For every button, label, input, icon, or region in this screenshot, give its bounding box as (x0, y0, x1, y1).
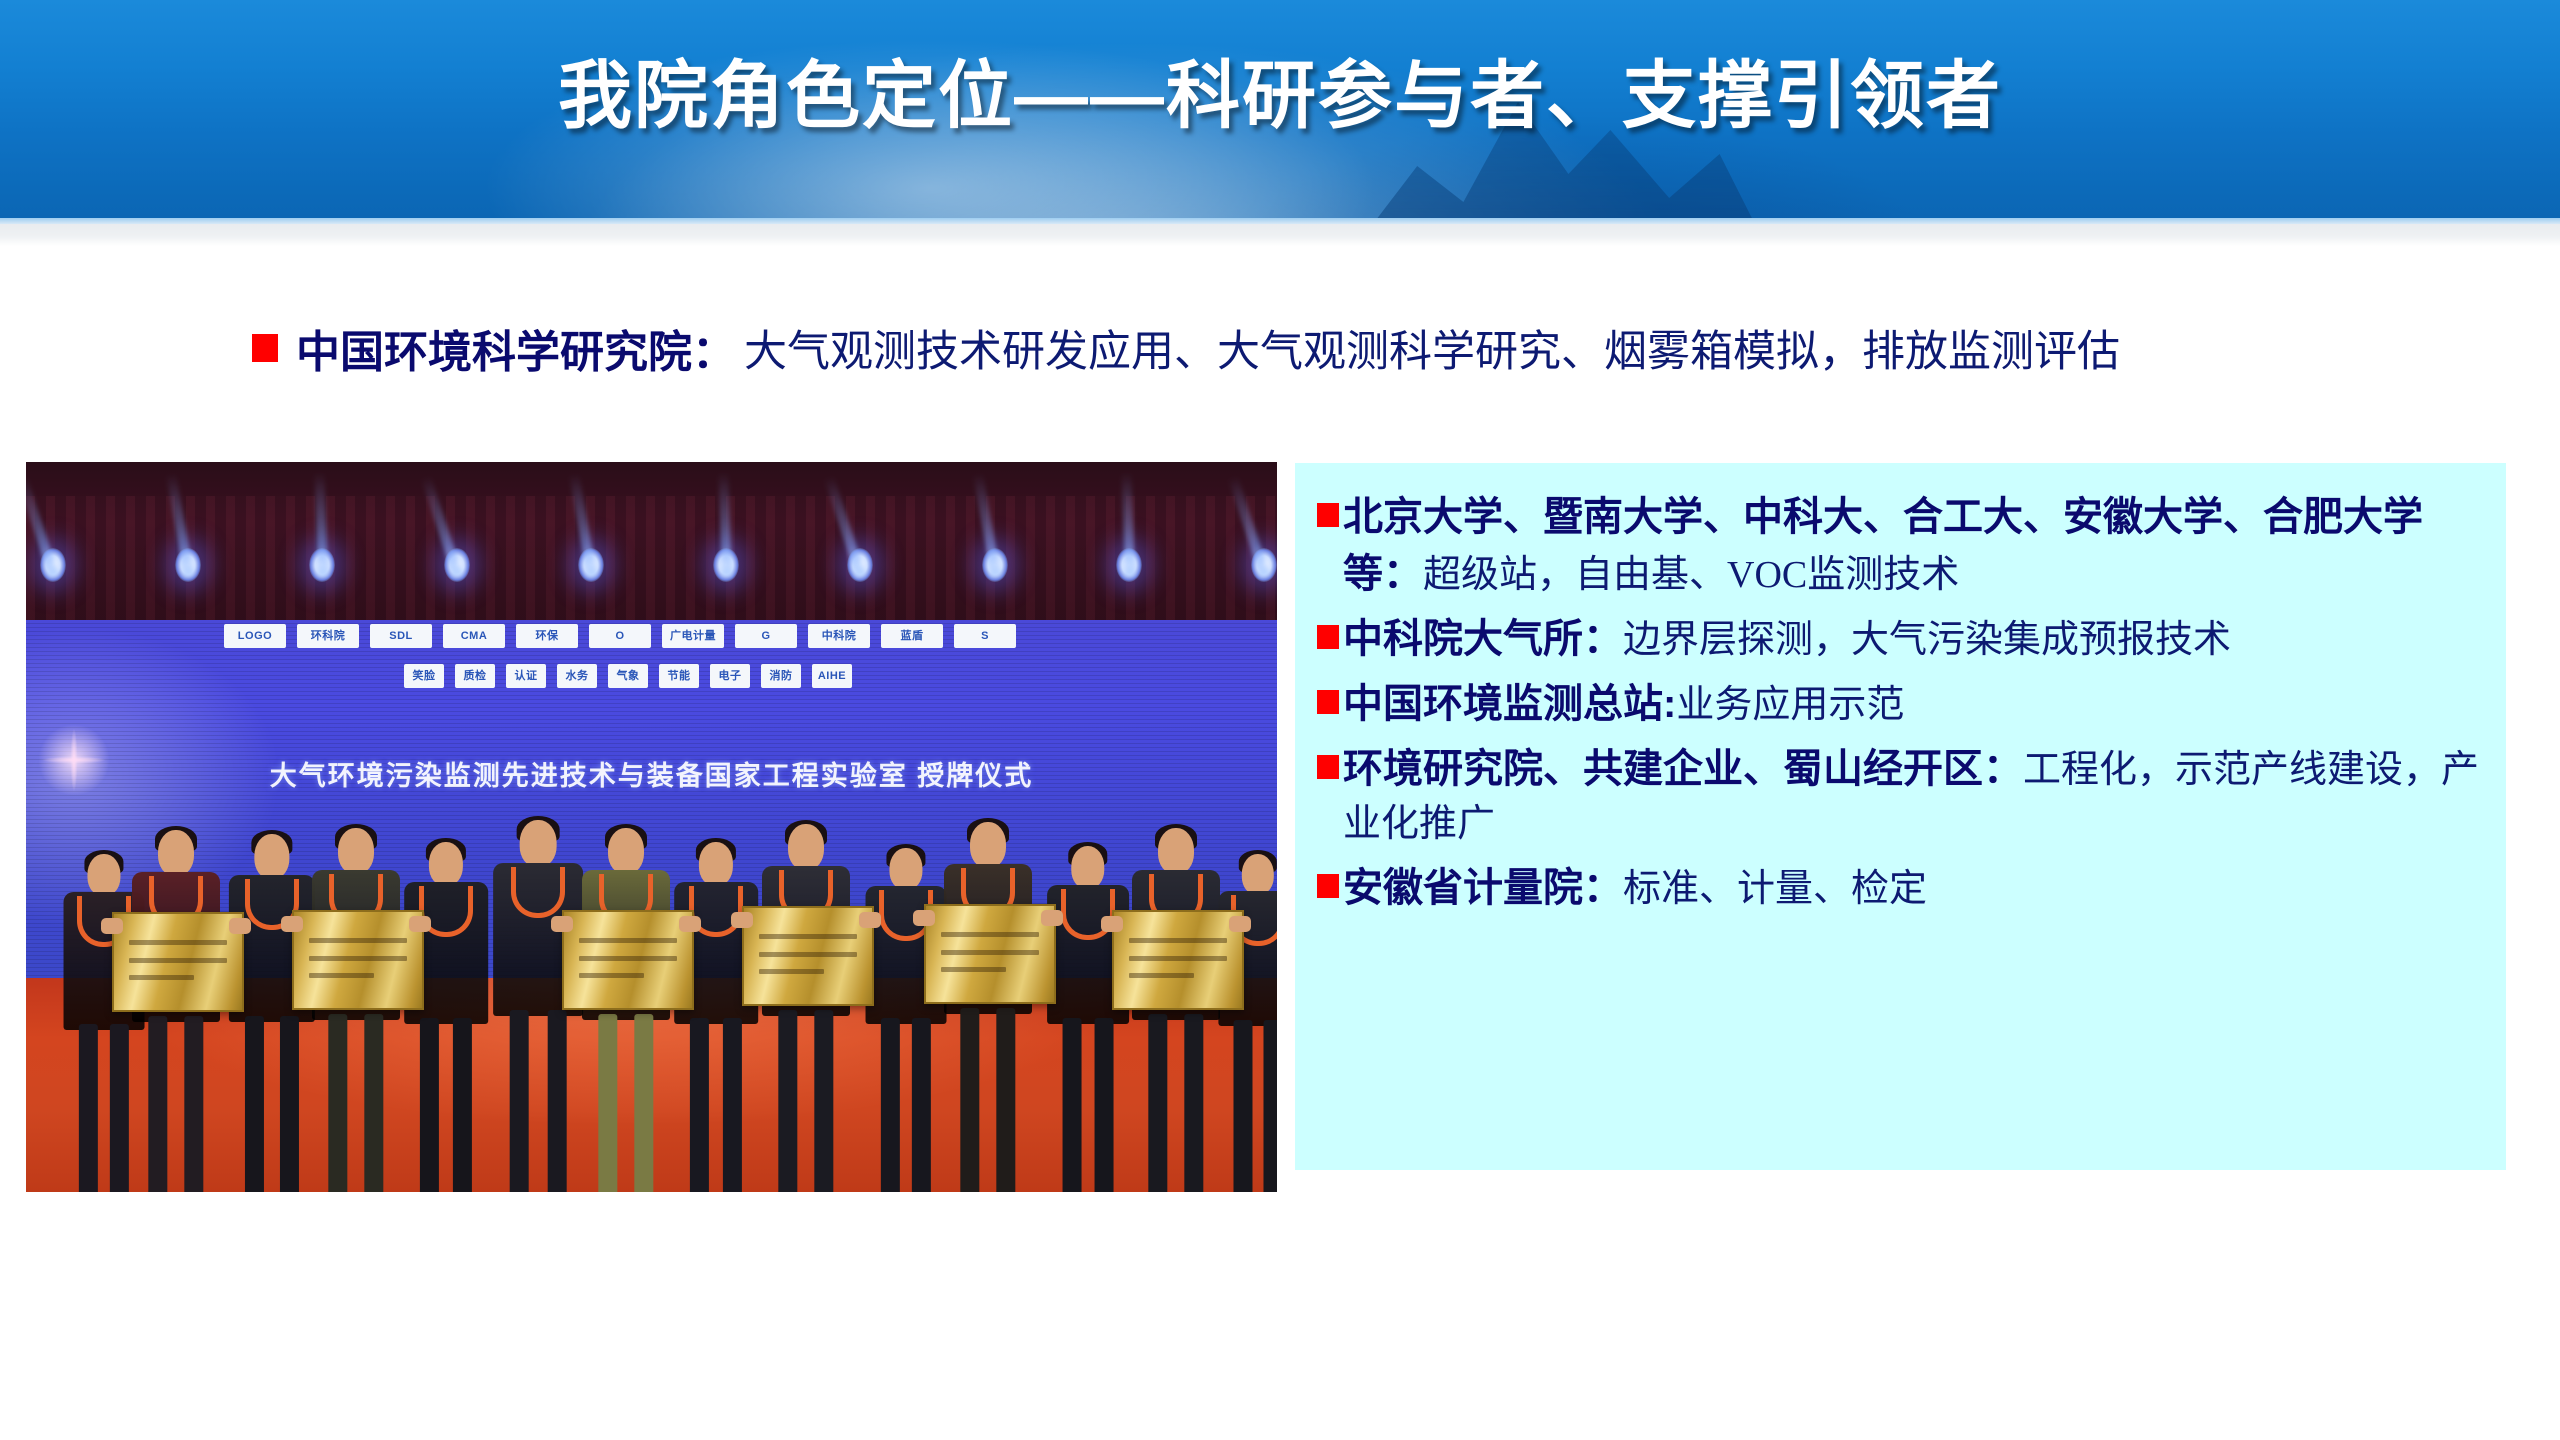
person-leg (778, 1010, 797, 1192)
sponsor-logo-tile: 笑脸 (404, 664, 444, 688)
red-square-bullet-icon (1317, 690, 1339, 714)
person-legs (416, 1018, 476, 1192)
partner-item-detail: 超级站，自由基、VOC监测技术 (1423, 554, 1959, 596)
sponsor-logo-tile: 质检 (455, 664, 495, 688)
partner-item-heading: 中国环境监测总站: (1343, 682, 1676, 726)
person-leg (79, 1024, 98, 1192)
person-leg (997, 1008, 1016, 1192)
sponsor-logo-label: 环保 (536, 631, 559, 642)
person-head (889, 848, 922, 890)
person-leg (815, 1010, 834, 1192)
sponsor-logo-tile: O (589, 624, 651, 648)
person-legs (75, 1024, 133, 1192)
partner-item-row: 安徽省计量院：标准、计量、检定 (1317, 860, 2485, 917)
partner-item: 中科院大气所：边界层探测，大气污染集成预报技术 (1317, 611, 2485, 668)
person-leg (110, 1024, 129, 1192)
person-hand (281, 916, 303, 932)
person-leg (547, 1010, 566, 1192)
lanyard-icon (1061, 889, 1115, 940)
person-leg (723, 1018, 742, 1192)
person-legs (506, 1010, 571, 1192)
person-legs (956, 1008, 1019, 1192)
person-legs (1059, 1018, 1118, 1192)
person-head (338, 828, 374, 874)
person-leg (1264, 1020, 1277, 1192)
person-hand (409, 916, 431, 932)
sponsor-logo-tile: AIHE (812, 664, 852, 688)
sponsor-logo-label: S (981, 631, 989, 642)
person-leg (1233, 1020, 1252, 1192)
person-leg (690, 1018, 709, 1192)
header-shelf-strip (0, 224, 2560, 246)
person-legs (774, 1010, 837, 1192)
sponsor-logo-label: 认证 (515, 671, 538, 682)
stage-lights-row (26, 548, 1277, 620)
sponsor-logo-label: CMA (461, 631, 488, 642)
person-leg (280, 1016, 299, 1192)
person-leg (1185, 1014, 1204, 1192)
slide-header-banner: 我院角色定位——科研参与者、支撑引领者 (0, 0, 2560, 218)
partner-item: 中国环境监测总站:业务应用示范 (1317, 676, 2485, 733)
sponsor-logo-tile: 环保 (516, 624, 578, 648)
person-leg (881, 1018, 900, 1192)
person-leg (598, 1014, 617, 1192)
red-square-bullet-icon (1317, 503, 1339, 527)
person-head (520, 820, 557, 867)
red-square-bullet-icon (1317, 755, 1339, 779)
sponsor-logo-tile: 认证 (506, 664, 546, 688)
sponsor-logo-label: LOGO (238, 631, 272, 642)
person-legs (877, 1018, 935, 1192)
partner-item-detail: 标准、计量、检定 (1623, 868, 1927, 910)
person-hand (1229, 916, 1251, 932)
sponsor-logo-tile: S (954, 624, 1016, 648)
page-title: 我院角色定位——科研参与者、支撑引领者 (0, 36, 2560, 143)
person-hand (1041, 910, 1063, 926)
sponsor-logo-label: 质检 (464, 671, 487, 682)
person-leg (185, 1016, 204, 1192)
award-plaque (924, 904, 1056, 1004)
partner-item-row: 北京大学、暨南大学、中科大、合工大、安徽大学、合肥大学等：超级站，自由基、VOC… (1317, 489, 2485, 603)
person-head (254, 834, 289, 879)
person-legs (144, 1016, 207, 1192)
sponsor-logo-tile: 节能 (659, 664, 699, 688)
sponsor-logo-label: 蓝盾 (901, 631, 924, 642)
person-head (158, 830, 194, 876)
sponsor-logo-label: SDL (389, 631, 413, 642)
sponsor-logo-label: 气象 (617, 671, 640, 682)
person-legs (241, 1016, 303, 1192)
sponsor-logo-tile: SDL (370, 624, 432, 648)
partner-item-text: 中国环境监测总站:业务应用示范 (1343, 676, 1904, 733)
person-hand (731, 912, 753, 928)
award-plaque (742, 906, 874, 1006)
award-plaque (112, 912, 244, 1012)
person-legs (324, 1014, 387, 1192)
sponsor-logo-tile: 水务 (557, 664, 597, 688)
lead-bullet-line: 中国环境科学研究院： 大气观测技术研发应用、大气观测科学研究、烟雾箱模拟，排放监… (252, 316, 2120, 380)
person-hand (913, 910, 935, 926)
partner-item-text: 中科院大气所：边界层探测，大气污染集成预报技术 (1343, 611, 2231, 668)
award-plaque (562, 910, 694, 1010)
person-head (1158, 828, 1194, 874)
partner-item-text: 安徽省计量院：标准、计量、检定 (1343, 860, 1927, 917)
partner-item: 环境研究院、共建企业、蜀山经开区：工程化，示范产线建设，产业化推广 (1317, 741, 2485, 852)
sponsor-logo-tile: CMA (443, 624, 505, 648)
partner-item-detail: 边界层探测，大气污染集成预报技术 (1623, 619, 2231, 661)
partner-item-detail: 业务应用示范 (1676, 684, 1904, 726)
partners-list: 北京大学、暨南大学、中科大、合工大、安徽大学、合肥大学等：超级站，自由基、VOC… (1317, 489, 2485, 925)
person-head (1242, 854, 1274, 895)
sponsor-logo-row-bottom: 笑脸质检认证水务气象节能电子消防AIHE (404, 664, 852, 688)
person-leg (912, 1018, 931, 1192)
sponsor-logo-label: 电子 (719, 671, 742, 682)
partner-item-heading: 安徽省计量院： (1343, 866, 1623, 910)
award-ceremony-photo: LOGO环科院SDLCMA环保O广电计量G中科院蓝盾S 笑脸质检认证水务气象节能… (26, 462, 1277, 1192)
person-leg (148, 1016, 167, 1192)
person-legs (686, 1018, 746, 1192)
person-head (970, 822, 1006, 868)
partner-item-heading: 中科院大气所： (1343, 617, 1623, 661)
sponsor-logo-tile: 电子 (710, 664, 750, 688)
person-leg (245, 1016, 264, 1192)
award-plaque (1112, 910, 1244, 1010)
plaque-inscription (309, 931, 406, 985)
person-head (788, 824, 824, 870)
partner-item: 北京大学、暨南大学、中科大、合工大、安徽大学、合肥大学等：超级站，自由基、VOC… (1317, 489, 2485, 603)
person-leg (453, 1018, 472, 1192)
lead-bullet-detail: 大气观测技术研发应用、大气观测科学研究、烟雾箱模拟，排放监测评估 (744, 317, 2120, 379)
sponsor-logo-label: 节能 (668, 671, 691, 682)
partner-item-text: 环境研究院、共建企业、蜀山经开区：工程化，示范产线建设，产业化推广 (1343, 741, 2485, 852)
person-leg (328, 1014, 347, 1192)
sponsor-logo-tile: LOGO (224, 624, 286, 648)
sponsor-logo-label: 笑脸 (413, 671, 436, 682)
partner-item-row: 环境研究院、共建企业、蜀山经开区：工程化，示范产线建设，产业化推广 (1317, 741, 2485, 852)
partner-item-heading: 环境研究院、共建企业、蜀山经开区： (1343, 747, 2023, 791)
award-plaque (292, 910, 424, 1010)
person-leg (960, 1008, 979, 1192)
sponsor-logo-label: 广电计量 (670, 631, 716, 642)
sponsor-logo-tile: 消防 (761, 664, 801, 688)
person-legs (594, 1014, 657, 1192)
sponsor-logo-label: 消防 (770, 671, 793, 682)
sponsor-logo-tile: 气象 (608, 664, 648, 688)
partner-item-text: 北京大学、暨南大学、中科大、合工大、安徽大学、合肥大学等：超级站，自由基、VOC… (1343, 489, 2485, 603)
person-hand (101, 918, 123, 934)
sponsor-logo-label: O (615, 631, 624, 642)
person-hand (551, 916, 573, 932)
person-legs (1144, 1014, 1207, 1192)
person-leg (420, 1018, 439, 1192)
person-hand (1101, 916, 1123, 932)
person-head (429, 842, 463, 886)
sponsor-logo-label: 中科院 (822, 631, 857, 642)
partners-panel: 北京大学、暨南大学、中科大、合工大、安徽大学、合肥大学等：超级站，自由基、VOC… (1295, 463, 2506, 1170)
lanyard-icon (511, 867, 565, 918)
person-head (699, 842, 733, 886)
person-hand (679, 916, 701, 932)
person-leg (365, 1014, 384, 1192)
person-head (87, 854, 120, 896)
plaque-inscription (941, 925, 1038, 979)
sponsor-logo-tile: 中科院 (808, 624, 870, 648)
partner-item-row: 中科院大气所：边界层探测，大气污染集成预报技术 (1317, 611, 2485, 668)
person-head (608, 828, 644, 874)
sponsor-logo-tile: 环科院 (297, 624, 359, 648)
person-hand (229, 918, 251, 934)
person-hand (859, 912, 881, 928)
partner-item-row: 中国环境监测总站:业务应用示范 (1317, 676, 2485, 733)
led-banner-text: 大气环境污染监测先进技术与装备国家工程实验室 授牌仪式 (26, 754, 1277, 793)
sponsor-logo-label: 环科院 (311, 631, 346, 642)
lead-bullet-heading: 中国环境科学研究院： (296, 316, 736, 380)
sponsor-logo-label: 水务 (566, 671, 589, 682)
sponsor-logo-label: AIHE (818, 671, 846, 682)
red-square-bullet-icon (252, 334, 278, 362)
person-head (1071, 846, 1104, 889)
sponsor-logo-label: G (761, 631, 770, 642)
plaque-inscription (129, 933, 226, 987)
person-leg (635, 1014, 654, 1192)
sponsor-logo-tile: G (735, 624, 797, 648)
person-leg (510, 1010, 529, 1192)
sponsor-logo-tile: 蓝盾 (881, 624, 943, 648)
plaque-inscription (759, 927, 856, 981)
person-legs (1229, 1020, 1277, 1192)
person-leg (1094, 1018, 1113, 1192)
sponsor-logo-row-top: LOGO环科院SDLCMA环保O广电计量G中科院蓝盾S (224, 624, 1016, 648)
red-square-bullet-icon (1317, 874, 1339, 898)
person-leg (1063, 1018, 1082, 1192)
sponsor-logo-tile: 广电计量 (662, 624, 724, 648)
partner-item: 安徽省计量院：标准、计量、检定 (1317, 860, 2485, 917)
plaque-inscription (1129, 931, 1226, 985)
plaque-inscription (579, 931, 676, 985)
person-leg (1148, 1014, 1167, 1192)
red-square-bullet-icon (1317, 625, 1339, 649)
